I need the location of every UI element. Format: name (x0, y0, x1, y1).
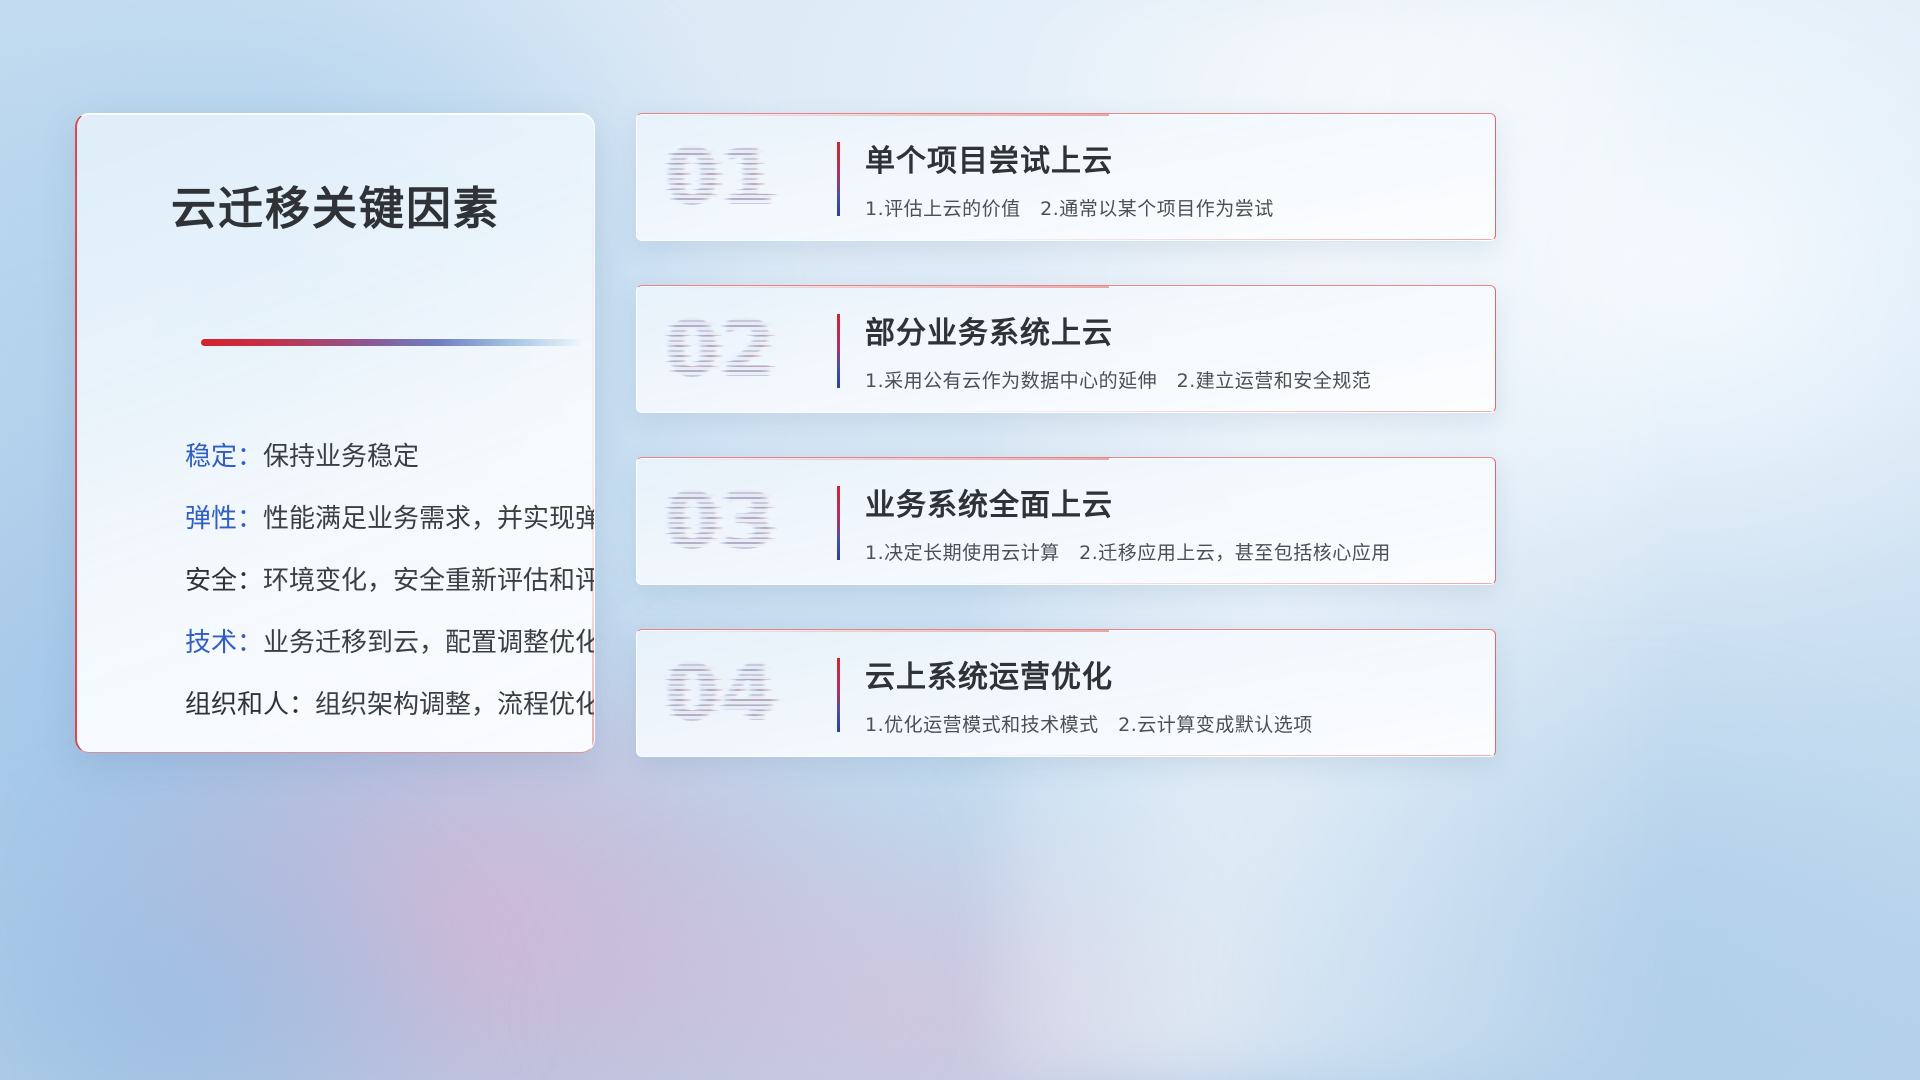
step-number-glitch: 02 02 02 (665, 300, 825, 400)
step-title: 部分业务系统上云 (865, 308, 1113, 352)
step-description: 1.优化运营模式和技术模式 2.云计算变成默认选项 (865, 710, 1313, 737)
step-number-slice-blue: 02 (660, 300, 820, 400)
title-underline-accent (201, 339, 583, 346)
step-description: 1.评估上云的价值 2.通常以某个项目作为尝试 (865, 194, 1274, 221)
factor-label: 稳定： (185, 442, 263, 472)
step-card-03[interactable]: 03 03 03 业务系统全面上云 1.决定长期使用云计算 2.迁移应用上云，甚… (636, 457, 1496, 585)
step-divider (837, 658, 840, 732)
factor-label: 组织和人： (185, 690, 315, 720)
step-title: 云上系统运营优化 (865, 652, 1113, 696)
factor-text: 保持业务稳定 (263, 442, 419, 472)
factor-text: 业务迁移到云，配置调整优化 (263, 628, 595, 658)
factor-label: 安全： (185, 566, 263, 596)
factor-text: 环境变化，安全重新评估和评审 (263, 566, 595, 596)
step-description: 1.决定长期使用云计算 2.迁移应用上云，甚至包括核心应用 (865, 538, 1391, 565)
factor-row: 弹性：性能满足业务需求，并实现弹性 (185, 488, 564, 550)
factor-row: 人员技能培训 (185, 736, 564, 753)
step-divider (837, 314, 840, 388)
step-number-glitch: 01 01 01 (665, 128, 825, 228)
factor-text: 性能满足业务需求，并实现弹性 (263, 504, 595, 534)
step-title: 单个项目尝试上云 (865, 136, 1113, 180)
factor-row: 稳定：保持业务稳定 (185, 426, 564, 488)
step-card-02[interactable]: 02 02 02 部分业务系统上云 1.采用公有云作为数据中心的延伸 2.建立运… (636, 285, 1496, 413)
step-divider (837, 486, 840, 560)
factor-row: 组织和人：组织架构调整，流程优化， (185, 674, 564, 736)
key-factors-list: 稳定：保持业务稳定 弹性：性能满足业务需求，并实现弹性 安全：环境变化，安全重新… (185, 426, 564, 753)
factor-row: 技术：业务迁移到云，配置调整优化 (185, 612, 564, 674)
step-number-slice-blue: 03 (660, 472, 820, 572)
step-number-glitch: 04 04 04 (665, 644, 825, 744)
step-card-04[interactable]: 04 04 04 云上系统运营优化 1.优化运营模式和技术模式 2.云计算变成默… (636, 629, 1496, 757)
step-divider (837, 142, 840, 216)
factor-text: 组织架构调整，流程优化， (315, 690, 595, 720)
factor-label: 弹性： (185, 504, 263, 534)
factor-label: 技术： (185, 628, 263, 658)
step-title: 业务系统全面上云 (865, 480, 1113, 524)
slide-stage: 云迁移关键因素 稳定：保持业务稳定 弹性：性能满足业务需求，并实现弹性 安全：环… (0, 0, 1920, 1080)
step-card-01[interactable]: 01 01 01 单个项目尝试上云 1.评估上云的价值 2.通常以某个项目作为尝… (636, 113, 1496, 241)
step-number-glitch: 03 03 03 (665, 472, 825, 572)
page-title: 云迁移关键因素 (77, 172, 594, 237)
step-number-slice-blue: 04 (660, 644, 820, 744)
step-number-slice-blue: 01 (660, 128, 820, 228)
key-factors-card: 云迁移关键因素 稳定：保持业务稳定 弹性：性能满足业务需求，并实现弹性 安全：环… (75, 113, 595, 753)
factor-text: 人员技能培训 (185, 752, 341, 753)
factor-row: 安全：环境变化，安全重新评估和评审 (185, 550, 564, 612)
step-description: 1.采用公有云作为数据中心的延伸 2.建立运营和安全规范 (865, 366, 1371, 393)
